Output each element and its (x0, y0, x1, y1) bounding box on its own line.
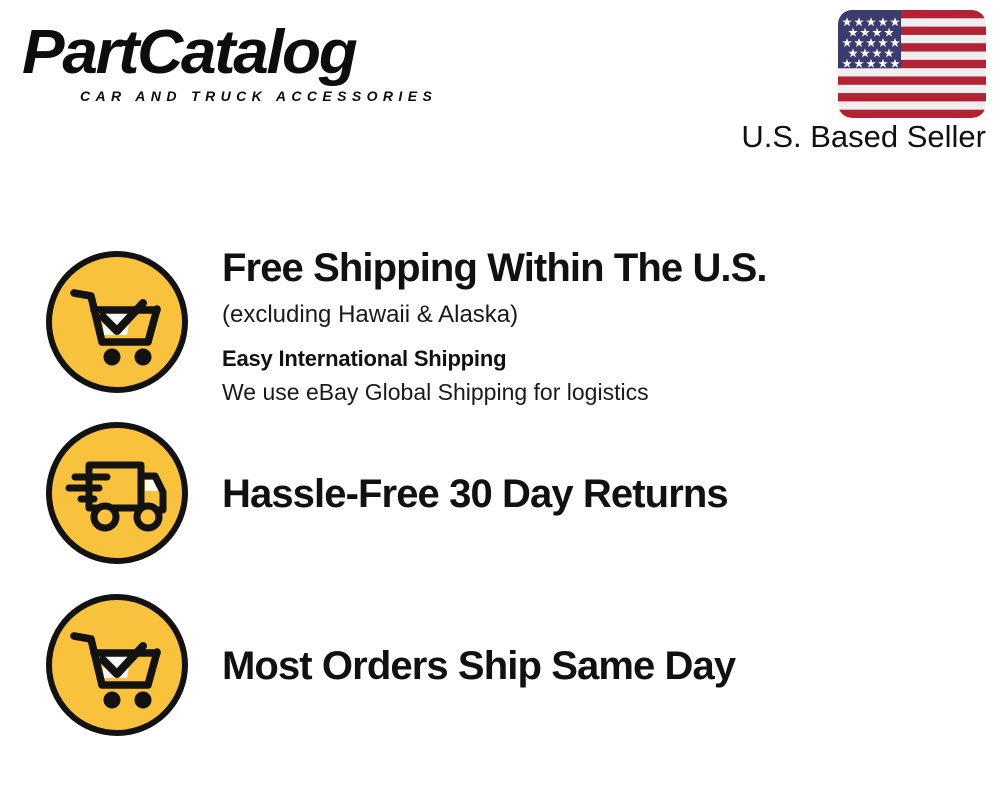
shopping-cart-check-icon (44, 249, 190, 395)
brand-wordmark: PartCatalog (22, 18, 355, 88)
feature-row-returns: Hassle-Free 30 Day Returns (0, 420, 1000, 570)
feature-heading: Hassle-Free 30 Day Returns (222, 470, 962, 518)
feature-text-free-shipping: Free Shipping Within The U.S. (excluding… (222, 249, 962, 408)
feature-text-same-day-ship: Most Orders Ship Same Day (222, 592, 962, 690)
feature-text-returns: Hassle-Free 30 Day Returns (222, 420, 962, 518)
us-flag-icon (838, 10, 986, 118)
feature-subtext-international: We use eBay Global Shipping for logistic… (222, 376, 962, 408)
feature-row-free-shipping: Free Shipping Within The U.S. (excluding… (0, 249, 1000, 409)
feature-row-same-day-ship: Most Orders Ship Same Day (0, 592, 1000, 742)
feature-note: (excluding Hawaii & Alaska) (222, 298, 962, 331)
page-header: PartCatalog CAR AND TRUCK ACCESSORIES (0, 0, 1000, 170)
shopping-cart-check-icon (44, 592, 190, 738)
brand-logo[interactable]: PartCatalog CAR AND TRUCK ACCESSORIES (22, 18, 492, 118)
feature-heading: Free Shipping Within The U.S. (222, 244, 962, 292)
feature-subheading-international: Easy International Shipping (222, 343, 962, 374)
us-based-seller-label: U.S. Based Seller (722, 119, 986, 155)
feature-heading: Most Orders Ship Same Day (222, 642, 962, 690)
brand-tagline: CAR AND TRUCK ACCESSORIES (80, 88, 437, 104)
delivery-truck-icon (44, 420, 190, 566)
